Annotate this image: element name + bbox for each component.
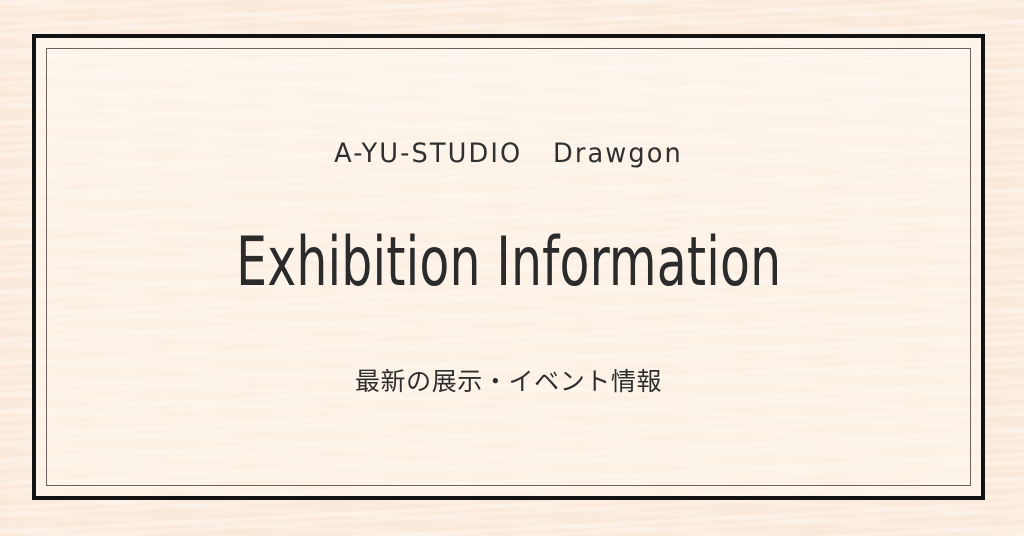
banner-content: A-YU-STUDIO Drawgon Exhibition Informati… [46,48,971,486]
exhibition-banner: A-YU-STUDIO Drawgon Exhibition Informati… [0,0,1024,536]
page-title: Exhibition Information [236,229,781,297]
studio-name-label: A-YU-STUDIO Drawgon [334,140,683,167]
page-subtitle: 最新の展示・イベント情報 [355,369,662,394]
